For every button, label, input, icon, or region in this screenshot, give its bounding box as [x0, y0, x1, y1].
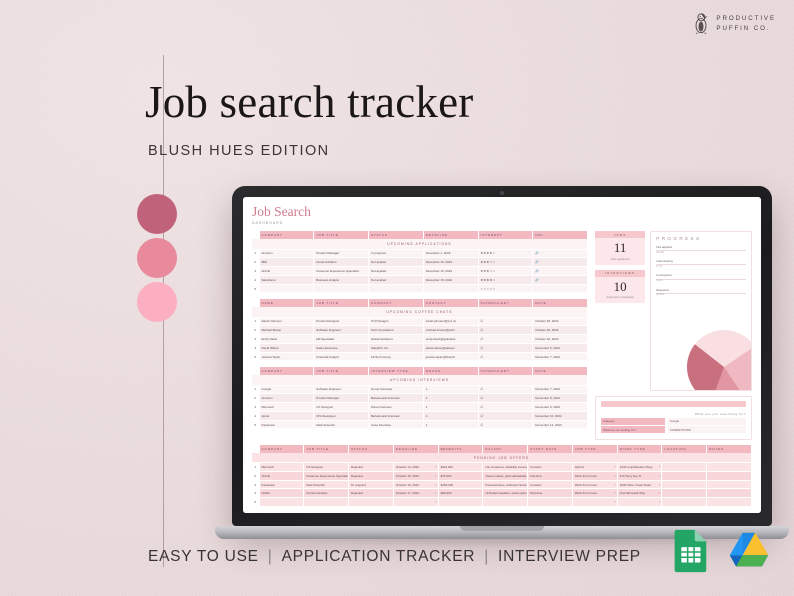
- col-date[interactable]: DATE: [533, 367, 588, 375]
- decor-dot-3: [137, 282, 177, 322]
- table-row: 5☆☆☆☆☆: [252, 284, 588, 293]
- table-row: 4AppleiOS DeveloperBehavioural Interview…: [252, 411, 588, 420]
- table-row: 3FacebookData ScientistTo respondOctober…: [252, 480, 752, 489]
- laptop-lid: Job Search DASHBOARD UPCOMING APPLICATIO…: [232, 186, 772, 526]
- col-job-title[interactable]: JOB TITLE: [314, 367, 369, 375]
- col-date[interactable]: DATE: [533, 299, 588, 307]
- coffee-chats-band: UPCOMING COFFEE CHATS: [252, 307, 588, 317]
- puffin-logo-icon: [694, 13, 709, 34]
- offers-rows: 1MicrosoftUX DesignerRejectedOctober 14,…: [252, 463, 752, 507]
- app-icons: [666, 528, 772, 574]
- applications-table[interactable]: UPCOMING APPLICATIONS COMPANY JOB TITLE …: [252, 231, 588, 293]
- offers-table[interactable]: PENDING JOB OFFERS COMPANY JOB TITLE STA…: [252, 445, 752, 507]
- col-name[interactable]: NAME: [259, 299, 314, 307]
- col-salary[interactable]: SALARY: [483, 445, 528, 453]
- stat-label: Interviews scheduled: [597, 295, 643, 299]
- col-company[interactable]: COMPANY: [259, 231, 314, 239]
- table-row: 1GoogleSoftware EngineerGroup Interview1…: [252, 385, 588, 394]
- progress-row: Not applied30.0%: [656, 245, 746, 254]
- search-row-query: What are you looking for? COMPETITORS: [601, 426, 746, 433]
- col-status[interactable]: STATUS: [349, 445, 394, 453]
- offers-band: PENDING JOB OFFERS: [252, 453, 752, 463]
- decor-dot-1: [137, 194, 177, 234]
- applications-header-row: COMPANY JOB TITLE STATUS DEADLINE INTERE…: [252, 231, 588, 239]
- col-job-type[interactable]: JOB TYPE: [572, 445, 617, 453]
- progress-panel: PROGRESS Not applied30.0% Interviewing0.…: [650, 231, 752, 391]
- stat-value: 10: [597, 280, 643, 293]
- search-panel[interactable]: What are you searching for? Category Goo…: [595, 396, 752, 439]
- stat-card-jobs: JOBS 11 Jobs applied to: [595, 231, 645, 265]
- col-interview-type[interactable]: INTERVIEW TYPE: [369, 367, 424, 375]
- progress-row: Interviewing0.7%: [656, 259, 746, 268]
- col-job-title[interactable]: JOB TITLE: [314, 299, 369, 307]
- laptop-mockup: Job Search DASHBOARD UPCOMING APPLICATIO…: [232, 186, 789, 539]
- brand-logo: PRODUCTIVE PUFFIN CO.: [694, 13, 776, 34]
- table-row: 1Sarah JohnsonProduct DesignerXYZ Design…: [252, 317, 588, 326]
- progress-row: Rejected30.0%: [656, 288, 746, 297]
- interviews-header-row: COMPANY JOB TITLE INTERVIEW TYPE ROUND S…: [252, 367, 588, 375]
- table-row: 4NetflixContent AnalystRejectedOctober 1…: [252, 489, 752, 498]
- col-notes[interactable]: NOTES: [707, 445, 752, 453]
- search-band: [601, 401, 746, 407]
- col-status[interactable]: STATUS: [369, 231, 424, 239]
- table-row: 1MicrosoftUX DesignerRejectedOctober 14,…: [252, 463, 752, 472]
- col-job-title[interactable]: JOB TITLE: [314, 231, 369, 239]
- search-value[interactable]: Google: [668, 418, 746, 425]
- table-row: 4SalesforceBusiness AnalystNot appliedDe…: [252, 275, 588, 284]
- dashboard-title: Job Search: [252, 205, 752, 219]
- col-url[interactable]: URL: [533, 231, 588, 239]
- stat-value: 11: [597, 241, 643, 254]
- col-deadline[interactable]: DEADLINE: [393, 445, 438, 453]
- table-row: 4David WilsonSales ExecutiveSalesPro Inc…: [252, 343, 588, 352]
- col-scheduled[interactable]: SCHEDULED?: [478, 299, 533, 307]
- feature-easy-to-use: EASY TO USE: [148, 548, 259, 566]
- interviews-band: UPCOMING INTERVIEWS: [252, 375, 588, 385]
- feature-application-tracker: APPLICATION TRACKER: [282, 548, 476, 566]
- col-location[interactable]: LOCATION: [662, 445, 707, 453]
- table-row: 5Jessica TaylorFinancial AnalystFinTech …: [252, 352, 588, 361]
- coffee-chats-header-row: NAME JOB TITLE COMPANY CONTACT SCHEDULED…: [252, 299, 588, 307]
- spreadsheet-dashboard: Job Search DASHBOARD UPCOMING APPLICATIO…: [243, 197, 761, 513]
- table-row: 2AmazonProduct ManagerBehavioural Interv…: [252, 394, 588, 403]
- coffee-chats-table[interactable]: UPCOMING COFFEE CHATS NAME JOB TITLE COM…: [252, 299, 588, 361]
- page-title: Job search tracker: [145, 76, 473, 128]
- table-row: 2AirbnbCustomer Experience SpecialistRej…: [252, 471, 752, 480]
- status-pie-chart: [687, 330, 752, 391]
- brand-name: PRODUCTIVE PUFFIN CO.: [716, 14, 776, 33]
- separator: |: [268, 548, 273, 566]
- google-sheets-icon: [666, 528, 712, 574]
- stat-card-interviews: INTERVIEWS 10 Interviews scheduled: [595, 270, 645, 304]
- decor-dot-2: [137, 238, 177, 278]
- col-job-title[interactable]: JOB TITLE: [304, 445, 349, 453]
- laptop-notch: [460, 526, 544, 531]
- col-benefits[interactable]: BENEFITS: [438, 445, 483, 453]
- search-key: What are you looking for?: [601, 426, 665, 433]
- col-scheduled[interactable]: SCHEDULED?: [478, 367, 533, 375]
- feature-list: EASY TO USE | APPLICATION TRACKER | INTE…: [148, 548, 641, 566]
- col-round[interactable]: ROUND: [423, 367, 478, 375]
- google-drive-icon: [726, 528, 772, 574]
- col-interest[interactable]: INTEREST: [478, 231, 533, 239]
- search-question: What are you searching for?: [601, 412, 746, 416]
- search-row-category: Category Google: [601, 418, 746, 425]
- col-company[interactable]: COMPANY: [259, 445, 304, 453]
- col-company[interactable]: COMPANY: [369, 299, 424, 307]
- dashboard-subtitle: DASHBOARD: [252, 221, 752, 225]
- decorative-dots: [137, 194, 177, 326]
- applications-rows: 1AmazonProduct ManagerIn progressNovembe…: [252, 249, 588, 293]
- table-row: 5: [252, 498, 752, 507]
- coffee-chats-rows: 1Sarah JohnsonProduct DesignerXYZ Design…: [252, 317, 588, 361]
- stat-caption: JOBS: [595, 231, 645, 238]
- progress-row: In progress0.1%: [656, 273, 746, 282]
- table-row: 3MicrosoftUX DesignerPanel Interview1☑No…: [252, 403, 588, 412]
- col-start-date[interactable]: START DATE: [528, 445, 573, 453]
- separator: |: [484, 548, 489, 566]
- offers-header-row: COMPANY JOB TITLE STATUS DEADLINE BENEFI…: [252, 445, 752, 453]
- col-deadline[interactable]: DEADLINE: [423, 231, 478, 239]
- webcam-icon: [500, 191, 504, 195]
- stat-caption: INTERVIEWS: [595, 270, 645, 277]
- table-row: 3AirbnbCustomer Experience SpecialistNot…: [252, 267, 588, 276]
- col-contact[interactable]: CONTACT: [423, 299, 478, 307]
- laptop-screen: Job Search DASHBOARD UPCOMING APPLICATIO…: [243, 197, 761, 513]
- table-row: 5FacebookData ScientistCase Interview1☑N…: [252, 420, 588, 429]
- table-row: 1AmazonProduct ManagerIn progressNovembe…: [252, 249, 588, 258]
- interviews-table[interactable]: UPCOMING INTERVIEWS COMPANY JOB TITLE IN…: [252, 367, 588, 429]
- table-row: 2IBMCloud ArchitectNot appliedDecember 1…: [252, 258, 588, 267]
- stat-label: Jobs applied to: [597, 257, 643, 261]
- col-work-type[interactable]: WORK TYPE: [617, 445, 662, 453]
- table-row: 2Michael BrownSoftware EngineerTech Inno…: [252, 326, 588, 335]
- table-row: 3Emily DavisHR SpecialistGlobal Solution…: [252, 335, 588, 344]
- page-subtitle: BLUSH HUES EDITION: [148, 143, 330, 159]
- search-value[interactable]: COMPETITORS: [668, 426, 746, 433]
- col-company[interactable]: COMPANY: [259, 367, 314, 375]
- applications-band: UPCOMING APPLICATIONS: [252, 239, 588, 249]
- feature-interview-prep: INTERVIEW PREP: [498, 548, 641, 566]
- search-key: Category: [601, 418, 665, 425]
- progress-heading: PROGRESS: [656, 236, 746, 241]
- interviews-rows: 1GoogleSoftware EngineerGroup Interview1…: [252, 385, 588, 429]
